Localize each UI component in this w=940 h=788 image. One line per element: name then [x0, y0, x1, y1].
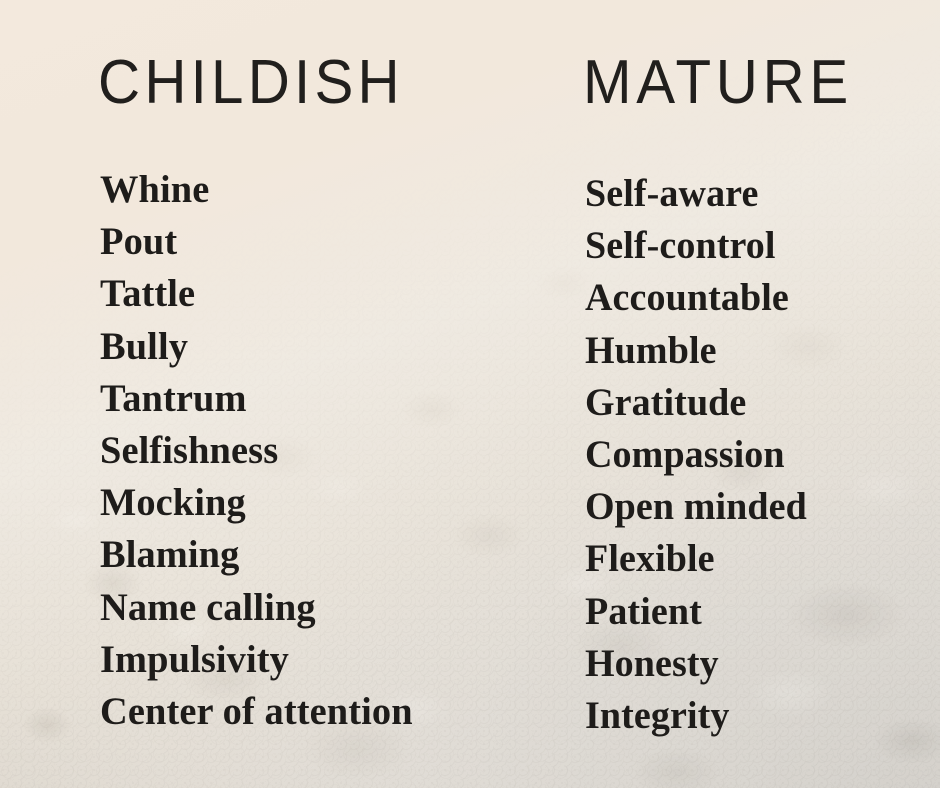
list-item: Selfishness [100, 425, 413, 477]
trait-list-childish: Whine Pout Tattle Bully Tantrum Selfishn… [100, 164, 417, 738]
list-item: Flexible [585, 533, 807, 585]
list-item: Gratitude [585, 377, 807, 429]
list-item: Humble [585, 325, 807, 377]
list-item: Bully [100, 321, 413, 373]
list-item: Tattle [100, 268, 413, 320]
list-item: Self-aware [585, 168, 807, 220]
list-item: Name calling [100, 582, 413, 634]
poster-canvas: CHILDISH Whine Pout Tattle Bully Tantrum… [0, 0, 940, 788]
list-item: Impulsivity [100, 634, 413, 686]
list-item: Integrity [585, 690, 807, 742]
trait-list-mature: Self-aware Self-control Accountable Humb… [585, 168, 813, 742]
list-item: Pout [100, 216, 413, 268]
list-item: Center of attention [100, 686, 413, 738]
list-item: Blaming [100, 529, 413, 581]
column-heading-mature: MATURE [583, 52, 853, 114]
list-item: Accountable [585, 272, 807, 324]
list-item: Open minded [585, 481, 807, 533]
list-item: Whine [100, 164, 413, 216]
poster-content: CHILDISH Whine Pout Tattle Bully Tantrum… [0, 0, 940, 788]
list-item: Compassion [585, 429, 807, 481]
list-item: Tantrum [100, 373, 413, 425]
list-item: Honesty [585, 638, 807, 690]
list-item: Mocking [100, 477, 413, 529]
list-item: Self-control [585, 220, 807, 272]
column-heading-childish: CHILDISH [98, 52, 404, 114]
list-item: Patient [585, 586, 807, 638]
